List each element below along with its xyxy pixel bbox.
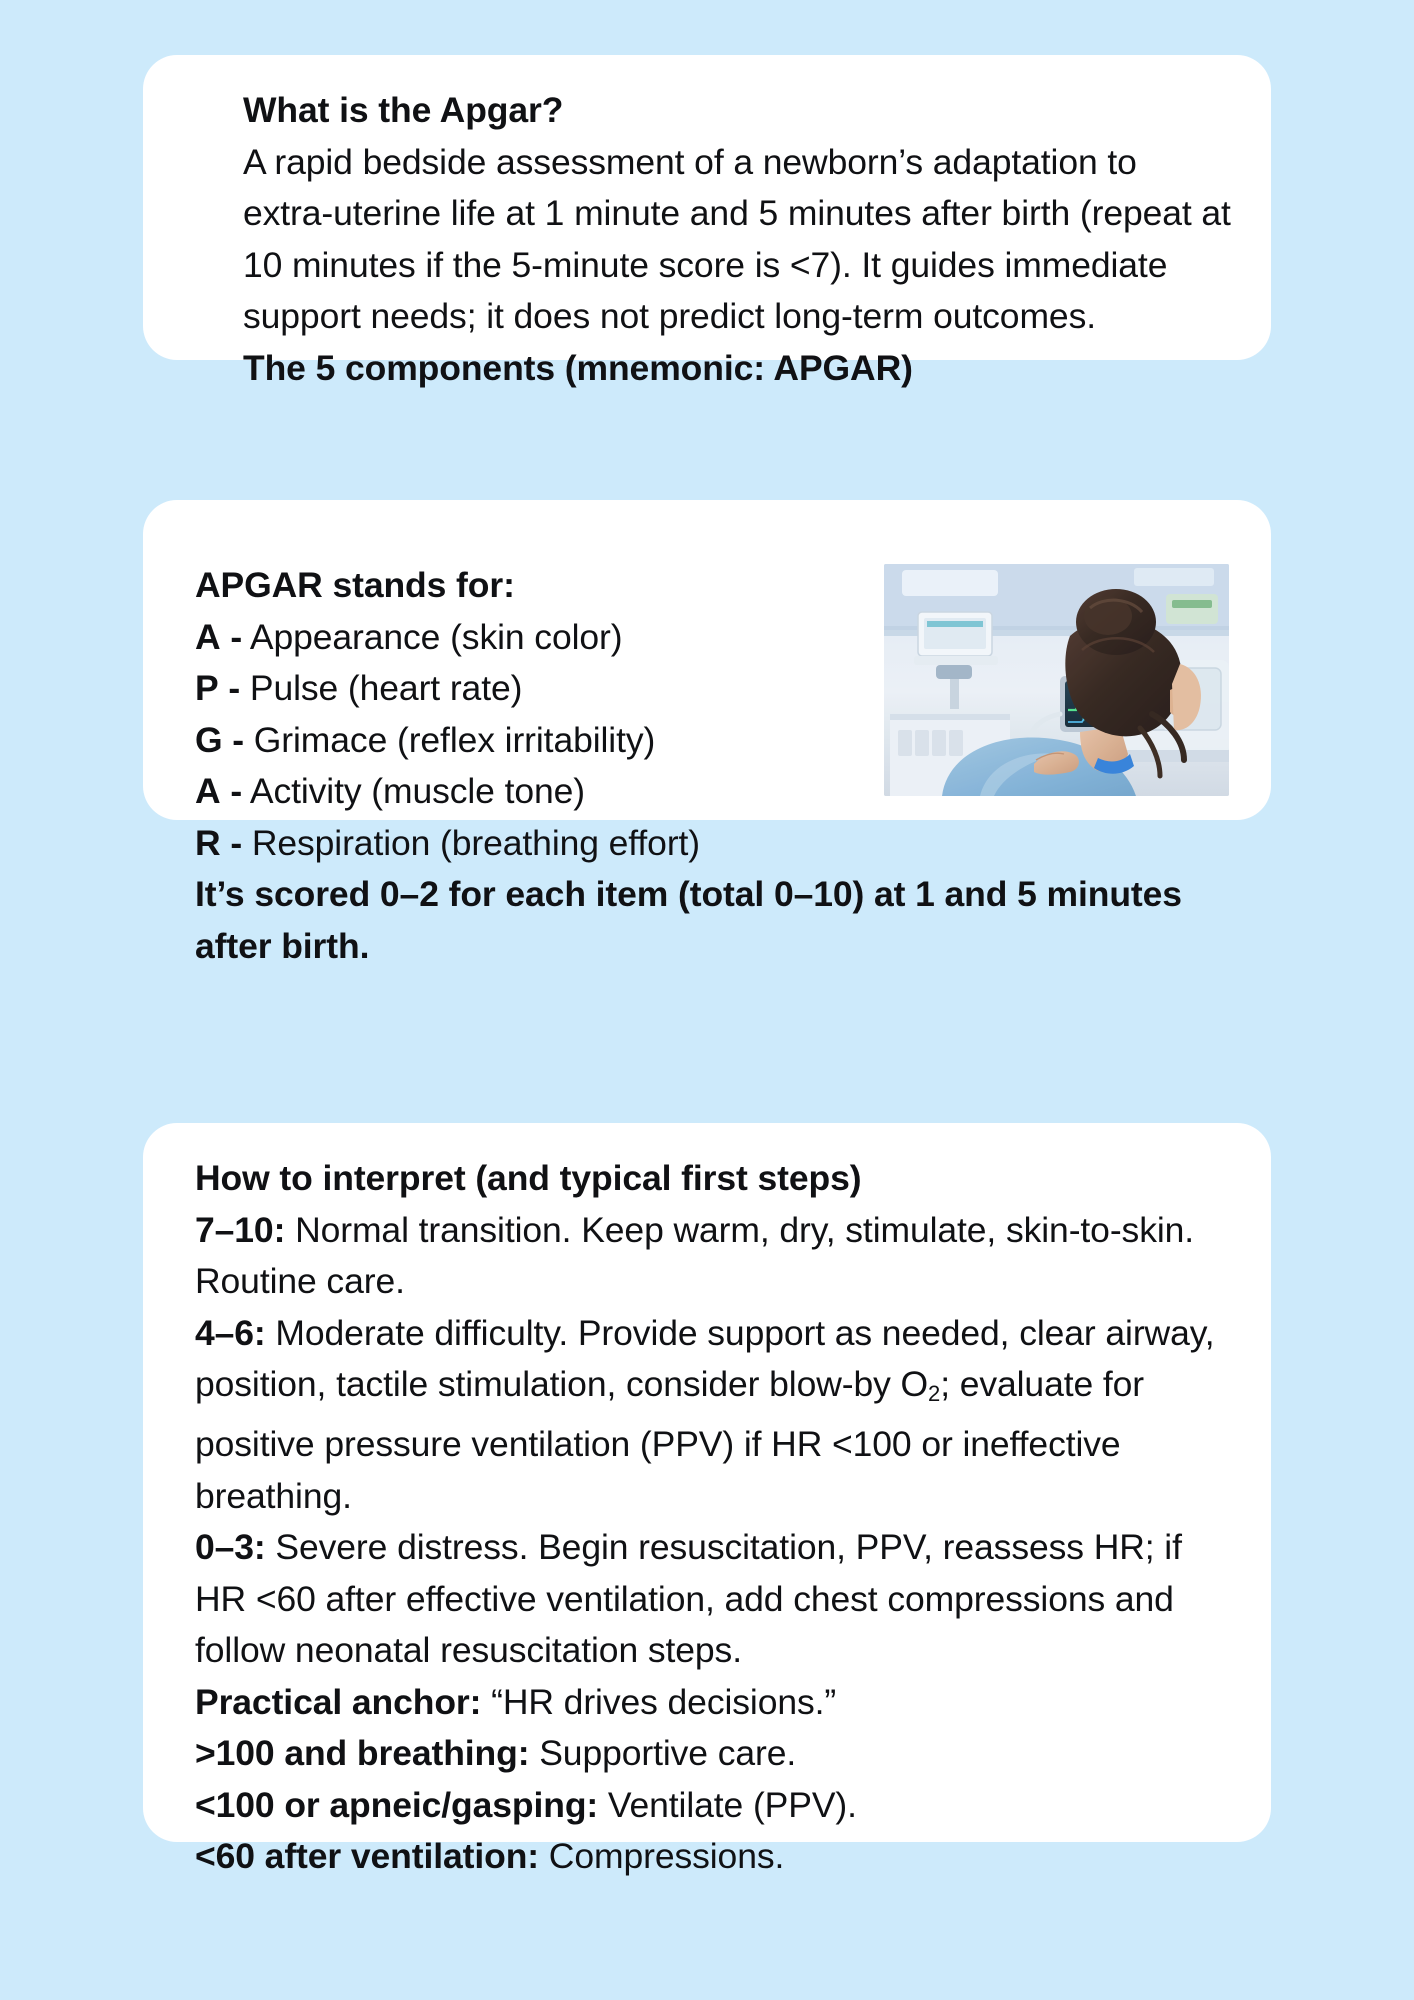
- hr-rule-text: Compressions.: [549, 1836, 784, 1876]
- apgar-dash-glyph: -: [228, 668, 240, 708]
- apgar-dash-glyph: -: [230, 771, 242, 811]
- card-what-is-the-apgar: What is the Apgar? A rapid bedside asses…: [143, 55, 1271, 360]
- interpret-heading: How to interpret (and typical first step…: [195, 1153, 1231, 1205]
- hr-rule-below-100: <100 or apneic/gasping: Ventilate (PPV).: [195, 1780, 1231, 1832]
- apgar-letter-text: Activity (muscle tone): [250, 771, 585, 811]
- apgar-letter-text: Pulse (heart rate): [250, 668, 522, 708]
- score-range-7-10: 7–10: Normal transition. Keep warm, dry,…: [195, 1205, 1231, 1308]
- apgar-letter: P: [195, 668, 219, 708]
- hr-rule-label: <60 after ventilation:: [195, 1836, 539, 1876]
- stands-for-footer: It’s scored 0–2 for each item (total 0–1…: [195, 869, 1231, 972]
- score-range-4-6: 4–6: Moderate difficulty. Provide suppor…: [195, 1308, 1231, 1523]
- hr-rule-below-60: <60 after ventilation: Compressions.: [195, 1831, 1231, 1883]
- score-range-text: Normal transition. Keep warm, dry, stimu…: [195, 1210, 1194, 1302]
- card-how-to-interpret: How to interpret (and typical first step…: [143, 1123, 1271, 1842]
- apgar-dash: [221, 823, 231, 863]
- score-range-label: 7–10:: [195, 1210, 285, 1250]
- card-apgar-stands-for: APGAR stands for: A - Appearance (skin c…: [143, 500, 1271, 820]
- hr-rule-text: Ventilate (PPV).: [608, 1785, 857, 1825]
- hr-rule-above-100: >100 and breathing: Supportive care.: [195, 1728, 1231, 1780]
- neonatal-nurse-at-incubator-photo: [884, 564, 1229, 796]
- practical-anchor-label: Practical anchor:: [195, 1682, 481, 1722]
- hr-rule-text: Supportive care.: [539, 1733, 796, 1773]
- score-range-0-3: 0–3: Severe distress. Begin resuscitatio…: [195, 1522, 1231, 1677]
- apgar-dash: [221, 771, 231, 811]
- intro-footer: The 5 components (mnemonic: APGAR): [243, 343, 1231, 395]
- apgar-dash: [219, 668, 229, 708]
- apgar-dash: [223, 720, 233, 760]
- infographic-page: What is the Apgar? A rapid bedside asses…: [0, 0, 1414, 2000]
- apgar-letter: R: [195, 823, 221, 863]
- apgar-letter: A: [195, 771, 221, 811]
- hr-rule-label: <100 or apneic/gasping:: [195, 1785, 598, 1825]
- photo-illustration: [884, 564, 1229, 796]
- list-item: R - Respiration (breathing effort): [195, 818, 1231, 870]
- apgar-letter-text: Grimace (reflex irritability): [254, 720, 655, 760]
- score-range-label: 0–3:: [195, 1527, 266, 1567]
- apgar-dash-glyph: -: [230, 823, 242, 863]
- o2-subscript: 2: [928, 1381, 940, 1406]
- hr-rule-label: >100 and breathing:: [195, 1733, 529, 1773]
- practical-anchor: Practical anchor: “HR drives decisions.”: [195, 1677, 1231, 1729]
- apgar-letter: G: [195, 720, 223, 760]
- apgar-dash-glyph: -: [232, 720, 244, 760]
- apgar-dash: [221, 617, 231, 657]
- apgar-dash-glyph: -: [230, 617, 242, 657]
- score-range-text: Severe distress. Begin resuscitation, PP…: [195, 1527, 1182, 1670]
- apgar-letter: A: [195, 617, 221, 657]
- intro-body: A rapid bedside assessment of a newborn’…: [243, 137, 1231, 343]
- intro-heading: What is the Apgar?: [243, 85, 1231, 137]
- apgar-letter-text: Appearance (skin color): [250, 617, 623, 657]
- score-range-label: 4–6:: [195, 1313, 266, 1353]
- practical-anchor-text: “HR drives decisions.”: [491, 1682, 836, 1722]
- apgar-letter-text: Respiration (breathing effort): [252, 823, 700, 863]
